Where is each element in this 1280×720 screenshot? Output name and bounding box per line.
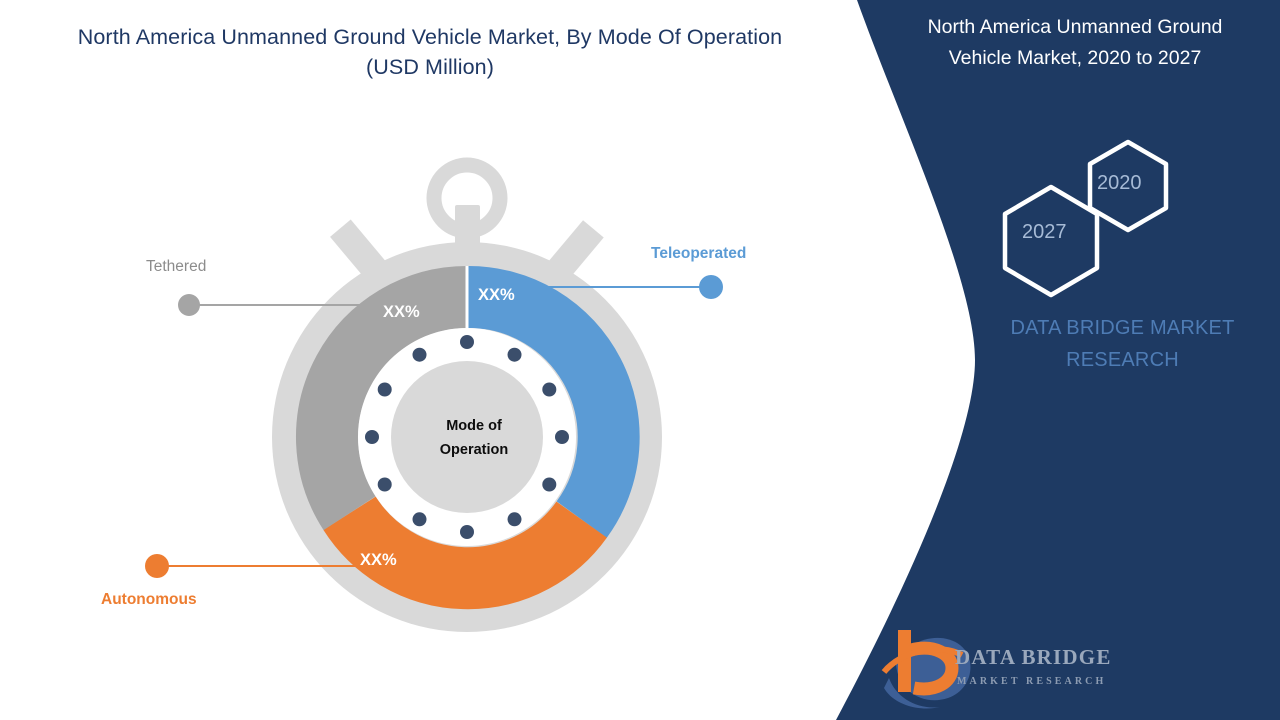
callout-label-tethered[interactable]: Tethered xyxy=(146,258,206,276)
callout-label-teleoperated[interactable]: Teleoperated xyxy=(651,245,746,263)
brand-name: DATA BRIDGE MARKET RESEARCH xyxy=(975,312,1270,376)
donut-center-line1: Mode of xyxy=(404,414,544,438)
dbmr-logo-icon xyxy=(884,630,970,708)
slice-value-autonomous: XX% xyxy=(360,551,397,570)
slice-value-teleoperated: XX% xyxy=(478,286,515,305)
hexagon-2020-icon xyxy=(1090,142,1166,230)
callout-dot-tethered xyxy=(178,294,200,316)
right-panel-background xyxy=(836,0,1280,720)
callout-dot-teleoperated xyxy=(699,275,723,299)
panel-title: North America Unmanned Ground Vehicle Ma… xyxy=(905,12,1245,74)
callout-label-autonomous[interactable]: Autonomous xyxy=(101,591,197,609)
donut-center-label: Mode of Operation xyxy=(404,414,544,462)
logo-primary-text: DATA BRIDGE xyxy=(955,645,1112,670)
hexagon-2027-label: 2027 xyxy=(1022,221,1067,244)
stopwatch-donut-svg xyxy=(0,0,860,720)
donut-center-line2: Operation xyxy=(404,438,544,462)
logo-secondary-text: MARKET RESEARCH xyxy=(957,676,1106,687)
callout-dot-autonomous xyxy=(145,554,169,578)
infographic-canvas: North America Unmanned Ground Vehicle Ma… xyxy=(0,0,1280,720)
donut-chart: Mode of Operation XX% XX% XX% Tethered T… xyxy=(0,0,860,720)
hexagon-2027-icon xyxy=(1005,187,1097,295)
hexagon-2020-label: 2020 xyxy=(1097,172,1142,195)
slice-value-tethered: XX% xyxy=(383,303,420,322)
